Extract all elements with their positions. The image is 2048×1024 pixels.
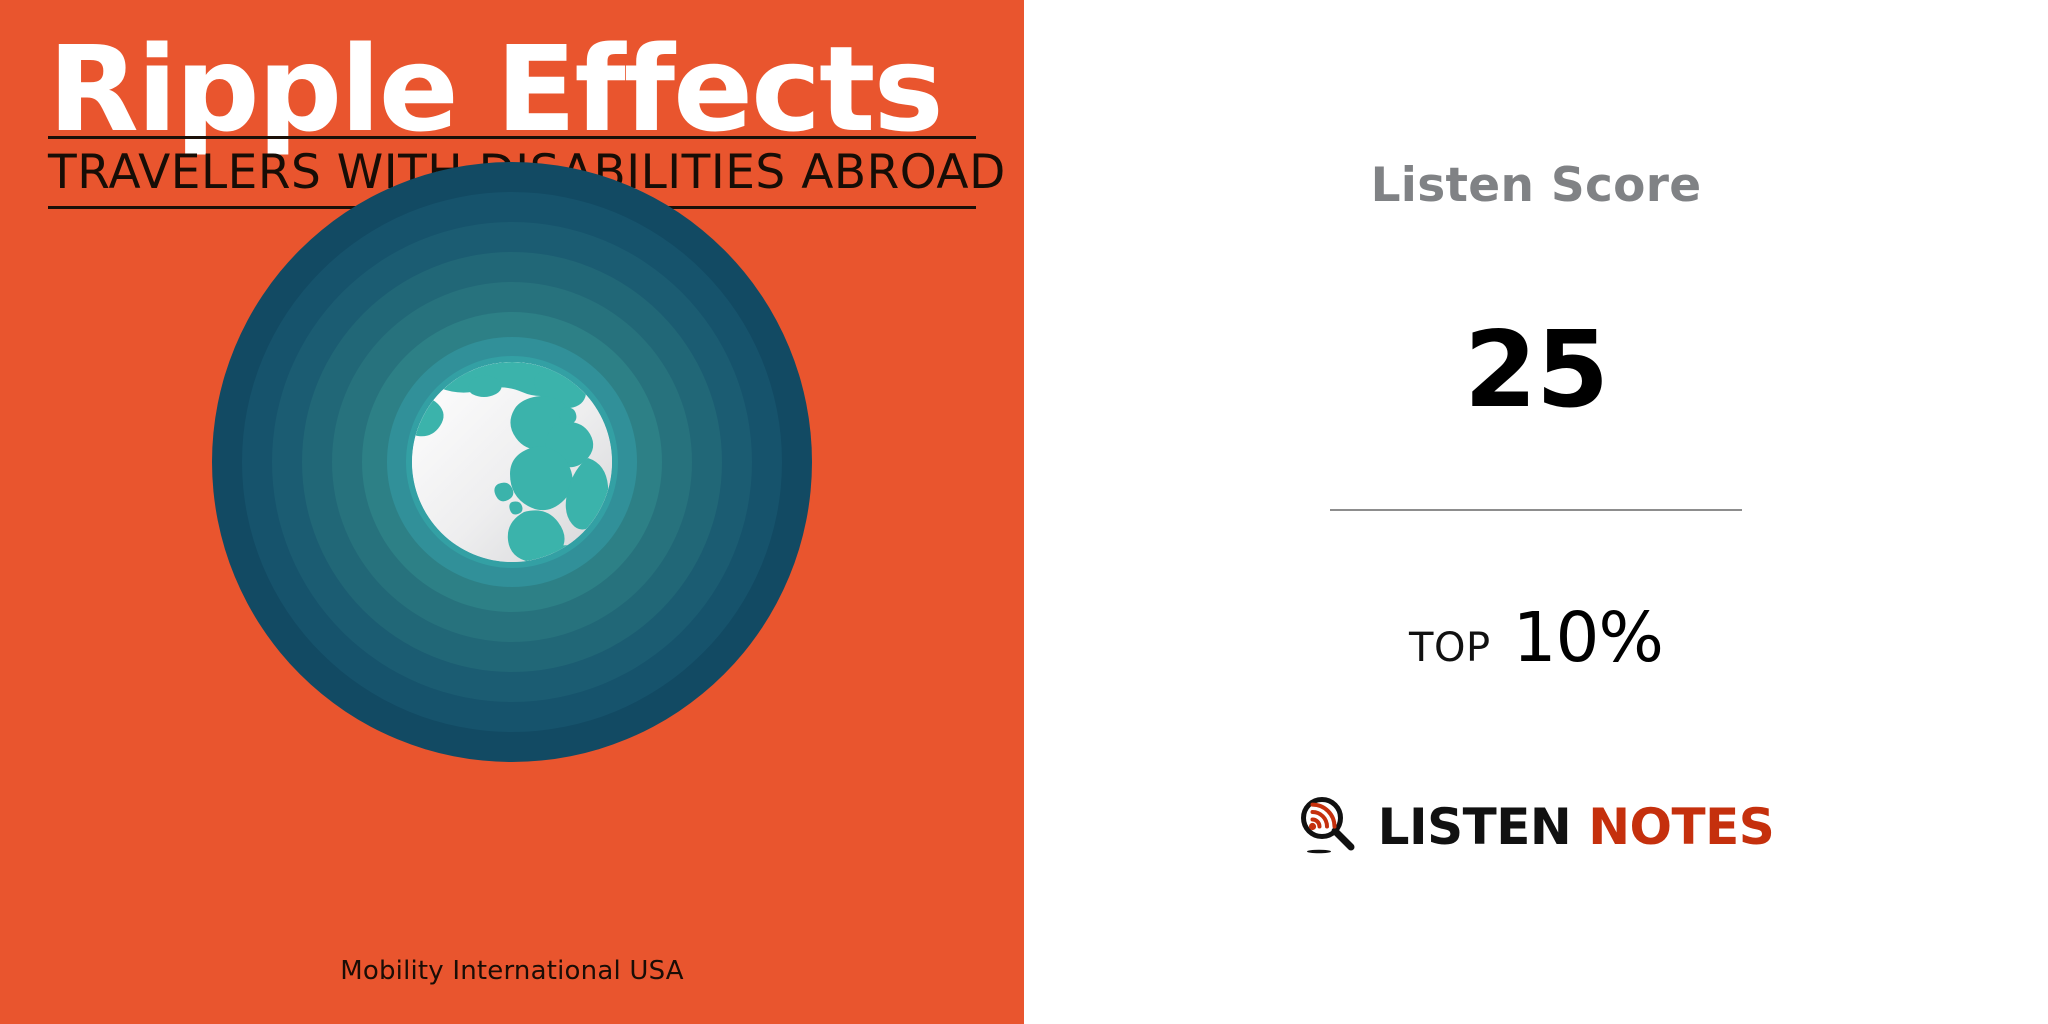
- listen-notes-logo[interactable]: LISTEN NOTES: [1024, 796, 2048, 858]
- brand-wordmark: LISTEN NOTES: [1378, 798, 1775, 856]
- podcast-title: Ripple Effects: [48, 30, 976, 148]
- brand-name-primary: LISTEN: [1378, 798, 1572, 856]
- magnifier-rss-icon: [1298, 796, 1356, 858]
- score-divider: [1330, 509, 1742, 511]
- podcast-publisher: Mobility International USA: [0, 956, 1024, 986]
- listen-score-card: Ripple Effects TRAVELERS WITH DISABILITI…: [0, 0, 2048, 1024]
- listen-score-panel: Listen Score 25 TOP 10% LISTEN NOTES: [1024, 0, 2048, 1024]
- title-rule-top: [48, 136, 976, 139]
- podcast-cover-art[interactable]: Ripple Effects TRAVELERS WITH DISABILITI…: [0, 0, 1024, 1024]
- listen-score-value: 25: [1024, 318, 2048, 423]
- ripple-rings-artwork: [212, 162, 812, 762]
- top-percentile-word: TOP: [1409, 625, 1491, 671]
- top-percentile-value: 10%: [1513, 598, 1663, 678]
- globe-icon: [412, 362, 612, 562]
- listen-score-label: Listen Score: [1024, 158, 2048, 213]
- brand-name-secondary: NOTES: [1588, 798, 1774, 856]
- top-percentile: TOP 10%: [1024, 598, 2048, 678]
